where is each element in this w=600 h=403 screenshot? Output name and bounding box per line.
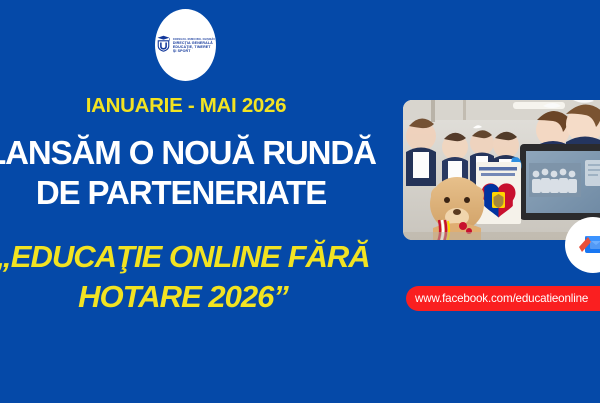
campaign-subtitle: „EDUCAŢIE ONLINE FĂRĂ HOTARE 2026” [0,237,378,316]
dgets-emblem-icon [156,35,171,57]
logo-badge: CONSILIUL MUNICIPAL CHIŞINĂU DIRECŢIA GE… [155,9,216,81]
page-title: LANSĂM O NOUĂ RUNDĂ DE PARTENERIATE [0,133,376,214]
classroom-children-photo [403,100,600,240]
subtitle-line-2: HOTARE 2026” [0,277,378,317]
envelope-icon [578,233,600,257]
campaign-date-range: IANUARIE - MAI 2026 [0,94,372,118]
facebook-url-text: www.facebook.com/educatieonline [415,292,588,305]
facebook-url-pill[interactable]: www.facebook.com/educatieonline [406,286,600,311]
poster-canvas: CONSILIUL MUNICIPAL CHIŞINĂU DIRECŢIA GE… [0,0,600,403]
logo-line-3: ŞI SPORT [173,49,215,53]
headline-line-2: DE PARTENERIATE [0,173,376,213]
subtitle-line-1: „EDUCAŢIE ONLINE FĂRĂ [0,237,378,277]
headline-line-1: LANSĂM O NOUĂ RUNDĂ [0,133,376,173]
